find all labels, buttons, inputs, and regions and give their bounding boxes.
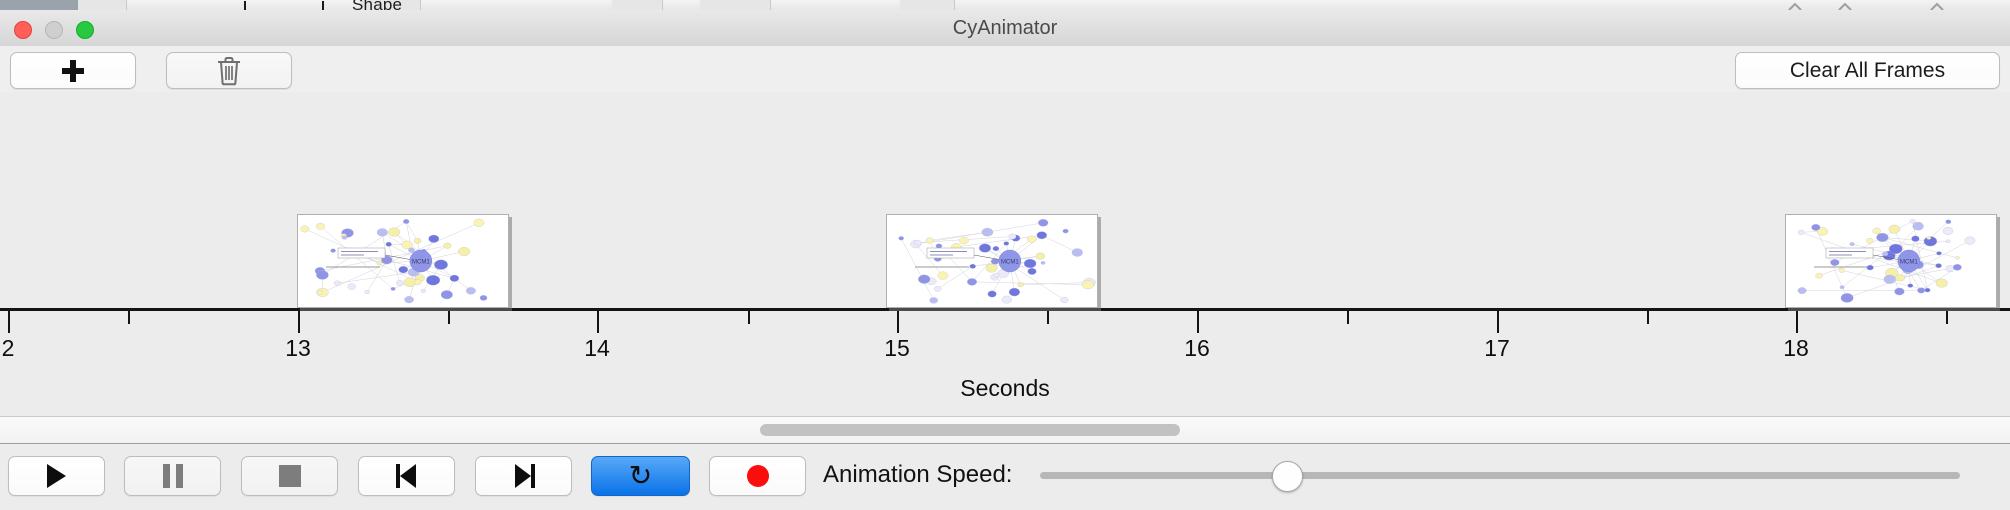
- last-frame-button[interactable]: [475, 456, 572, 496]
- play-button[interactable]: [8, 456, 105, 496]
- stop-button[interactable]: [241, 456, 338, 496]
- timeline-tick-minor: [1047, 311, 1049, 324]
- clear-all-frames-button[interactable]: Clear All Frames: [1735, 52, 2000, 89]
- window-title: CyAnimator: [0, 10, 2010, 46]
- timeline-scrollbar-thumb[interactable]: [760, 424, 1180, 436]
- skip-forward-icon: [513, 464, 535, 488]
- timeline-tick-major: [597, 311, 599, 333]
- timeline-tick-label: 16: [1184, 335, 1210, 362]
- timeline-tick-label: 2: [2, 335, 15, 362]
- plus-icon: [62, 60, 84, 82]
- timeline-tick-label: 15: [884, 335, 910, 362]
- timeline-tick-minor: [1347, 311, 1349, 324]
- loop-button[interactable]: ↻: [591, 456, 690, 496]
- timeline-axis-title: Seconds: [0, 375, 2010, 402]
- svg-text:MCM1: MCM1: [1900, 259, 1918, 265]
- timeline-scrollbar[interactable]: [0, 417, 2010, 444]
- skip-backward-icon: [396, 464, 418, 488]
- timeline-frame-thumbnail[interactable]: MCM1: [1785, 214, 1997, 308]
- timeline-axis: [0, 308, 2010, 311]
- pause-icon: [163, 464, 183, 488]
- timeline-frame-thumbnail[interactable]: MCM1: [297, 214, 509, 308]
- animation-speed-label: Animation Speed:: [823, 456, 1012, 494]
- title-bar: CyAnimator: [0, 10, 2010, 47]
- cyanimator-window: Shape CyAnimator Clear All Frames: [0, 0, 2010, 510]
- timeline-frame-thumbnail[interactable]: MCM1: [886, 214, 1098, 308]
- timeline-tick-label: 14: [584, 335, 610, 362]
- delete-frame-button[interactable]: [166, 52, 292, 89]
- timeline-tick-major: [8, 311, 10, 333]
- record-icon: [747, 465, 769, 487]
- add-frame-button[interactable]: [10, 52, 136, 89]
- timeline-tick-minor: [1647, 311, 1649, 324]
- timeline-tick-label: 13: [285, 335, 311, 362]
- timeline-tick-major: [1796, 311, 1798, 333]
- timeline-tick-major: [1197, 311, 1199, 333]
- pause-button[interactable]: [124, 456, 221, 496]
- first-frame-button[interactable]: [358, 456, 455, 496]
- svg-text:MCM1: MCM1: [1001, 259, 1019, 265]
- slider-track: [1040, 472, 1960, 479]
- playback-control-bar: ↻ Animation Speed:: [0, 444, 2010, 510]
- trash-icon: [216, 56, 242, 86]
- animation-speed-slider[interactable]: [1040, 472, 1960, 480]
- toolbar: Clear All Frames: [0, 46, 2010, 93]
- timeline-tick-minor: [448, 311, 450, 324]
- timeline-tick-minor: [1946, 311, 1948, 324]
- svg-text:MCM1: MCM1: [412, 259, 430, 265]
- loop-icon: ↻: [629, 462, 652, 490]
- play-icon: [47, 464, 66, 488]
- timeline-tick-major: [1497, 311, 1499, 333]
- timeline-panel[interactable]: 2131415161718 Seconds MCM1MCM1MCM1: [0, 92, 2010, 417]
- timeline-tick-label: 17: [1484, 335, 1510, 362]
- timeline-tick-minor: [128, 311, 130, 324]
- record-button[interactable]: [709, 456, 806, 496]
- timeline-tick-major: [298, 311, 300, 333]
- slider-thumb[interactable]: [1272, 461, 1303, 492]
- timeline-tick-major: [897, 311, 899, 333]
- timeline-tick-minor: [748, 311, 750, 324]
- timeline-tick-label: 18: [1783, 335, 1809, 362]
- stop-icon: [279, 465, 301, 487]
